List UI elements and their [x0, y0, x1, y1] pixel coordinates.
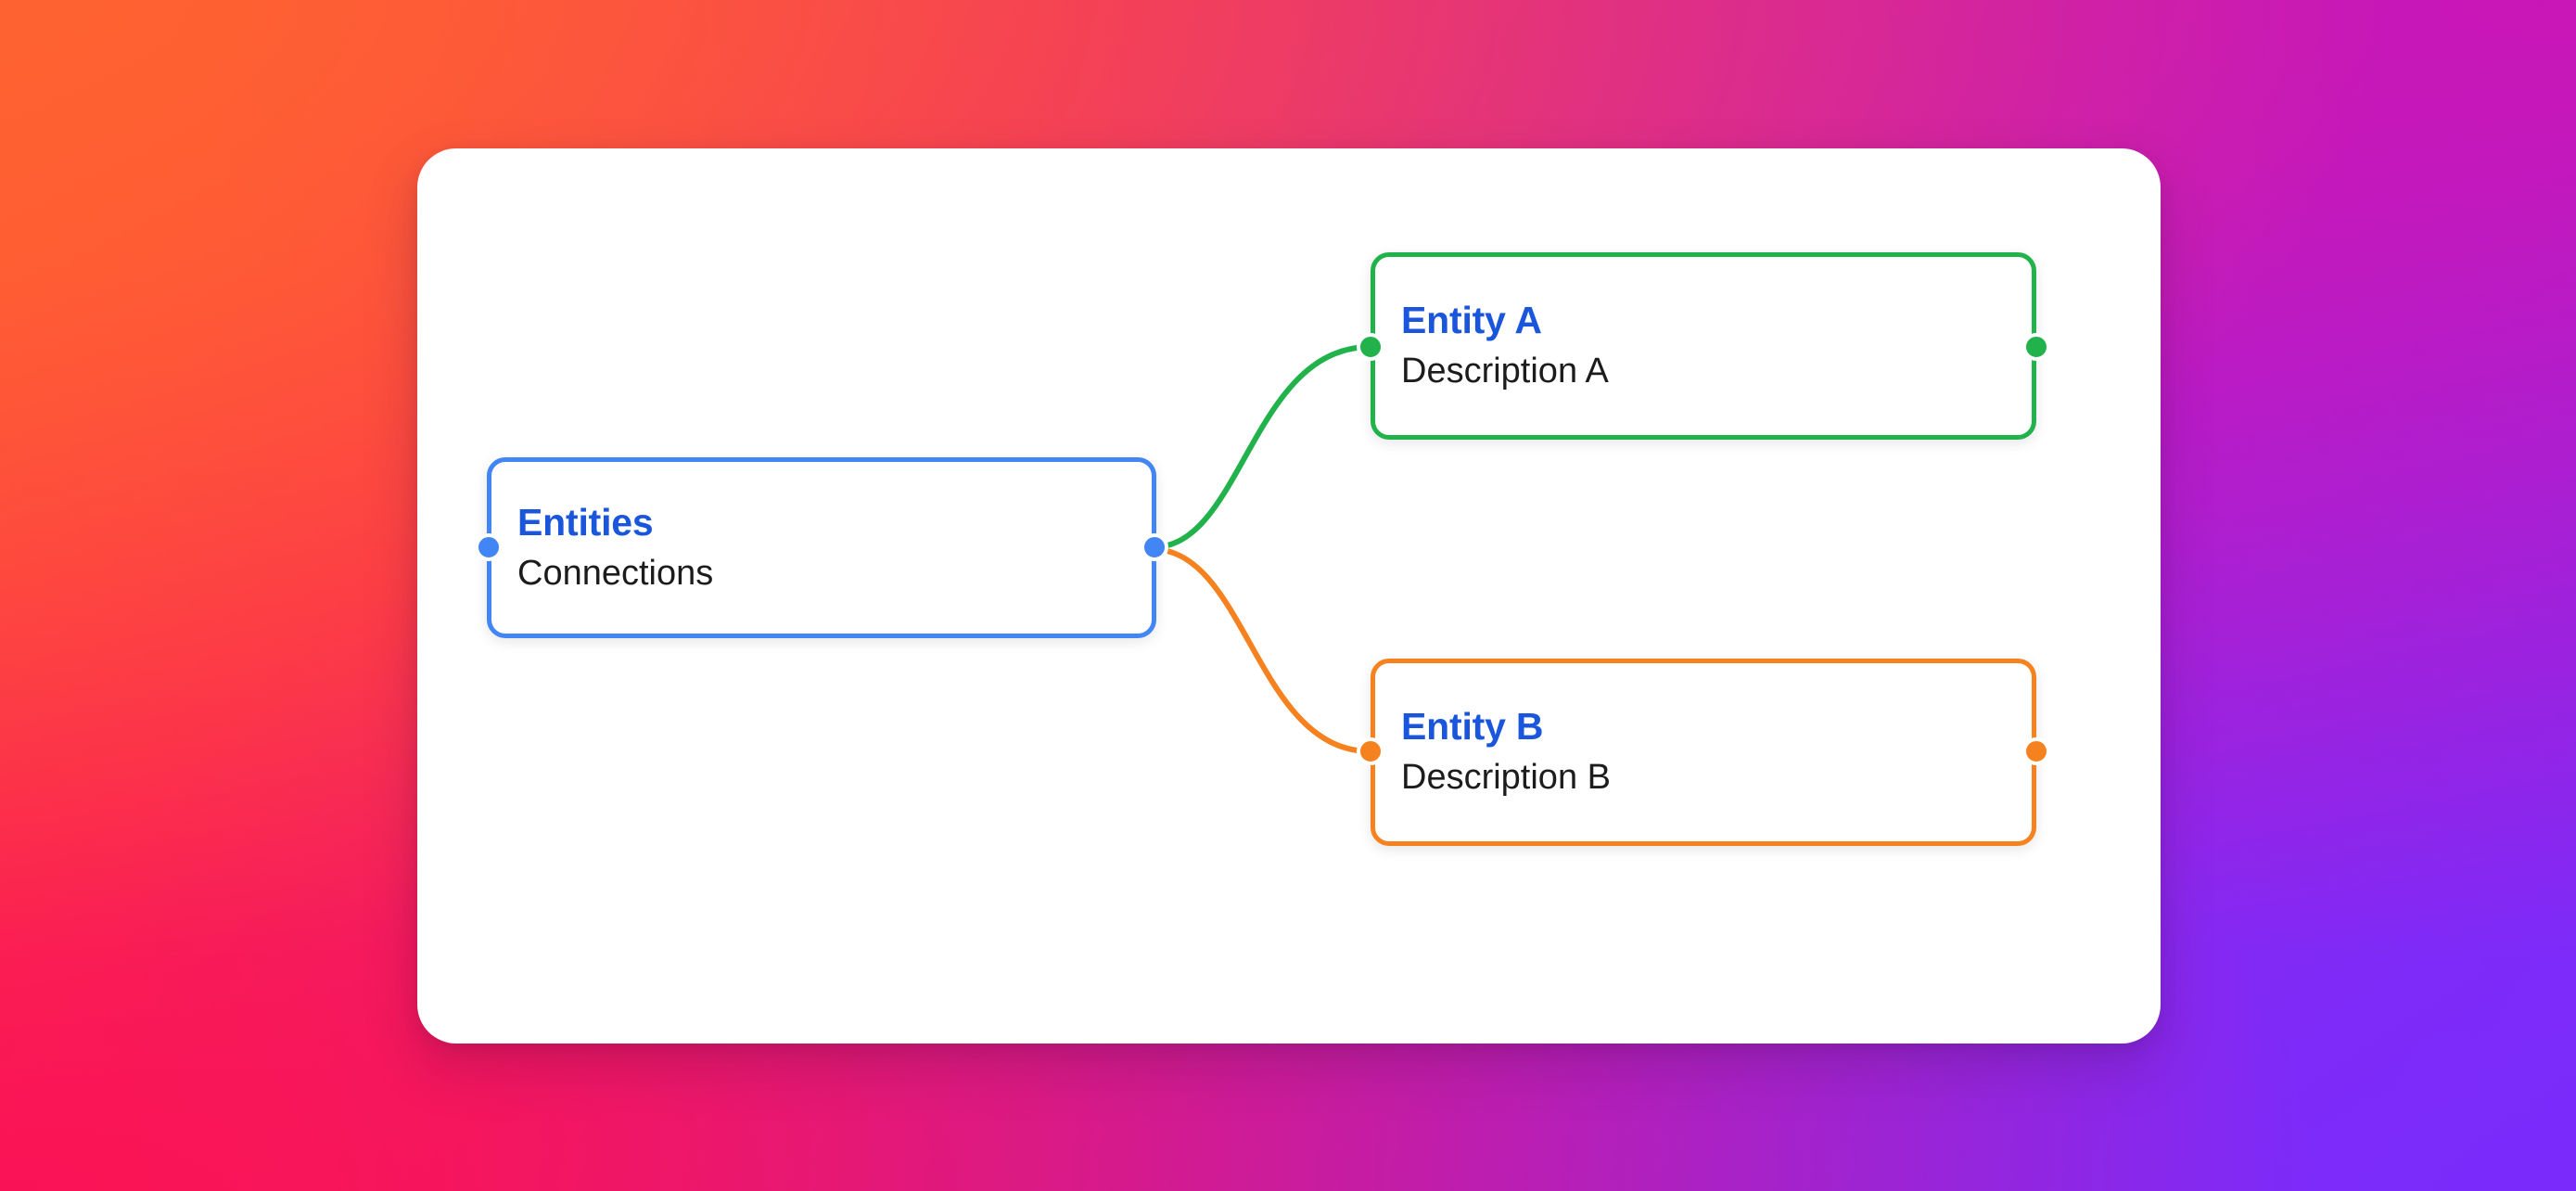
- node-entity-a[interactable]: Entity A Description A: [1371, 252, 2036, 440]
- port-entity-b-right[interactable]: [2022, 737, 2050, 765]
- node-entities[interactable]: Entities Connections: [487, 457, 1156, 638]
- port-entities-left[interactable]: [475, 533, 503, 561]
- node-entity-b-title: Entity B: [1401, 705, 2006, 749]
- node-entity-a-subtitle: Description A: [1401, 351, 2006, 393]
- port-entity-a-right[interactable]: [2022, 333, 2050, 361]
- node-entities-subtitle: Connections: [517, 553, 1126, 595]
- port-entity-a-left[interactable]: [1357, 333, 1384, 361]
- port-entity-b-left[interactable]: [1357, 737, 1384, 765]
- node-entity-b[interactable]: Entity B Description B: [1371, 659, 2036, 846]
- port-entities-right[interactable]: [1141, 533, 1168, 561]
- node-entity-a-title: Entity A: [1401, 299, 2006, 342]
- node-entity-b-subtitle: Description B: [1401, 757, 2006, 800]
- node-entities-title: Entities: [517, 501, 1126, 544]
